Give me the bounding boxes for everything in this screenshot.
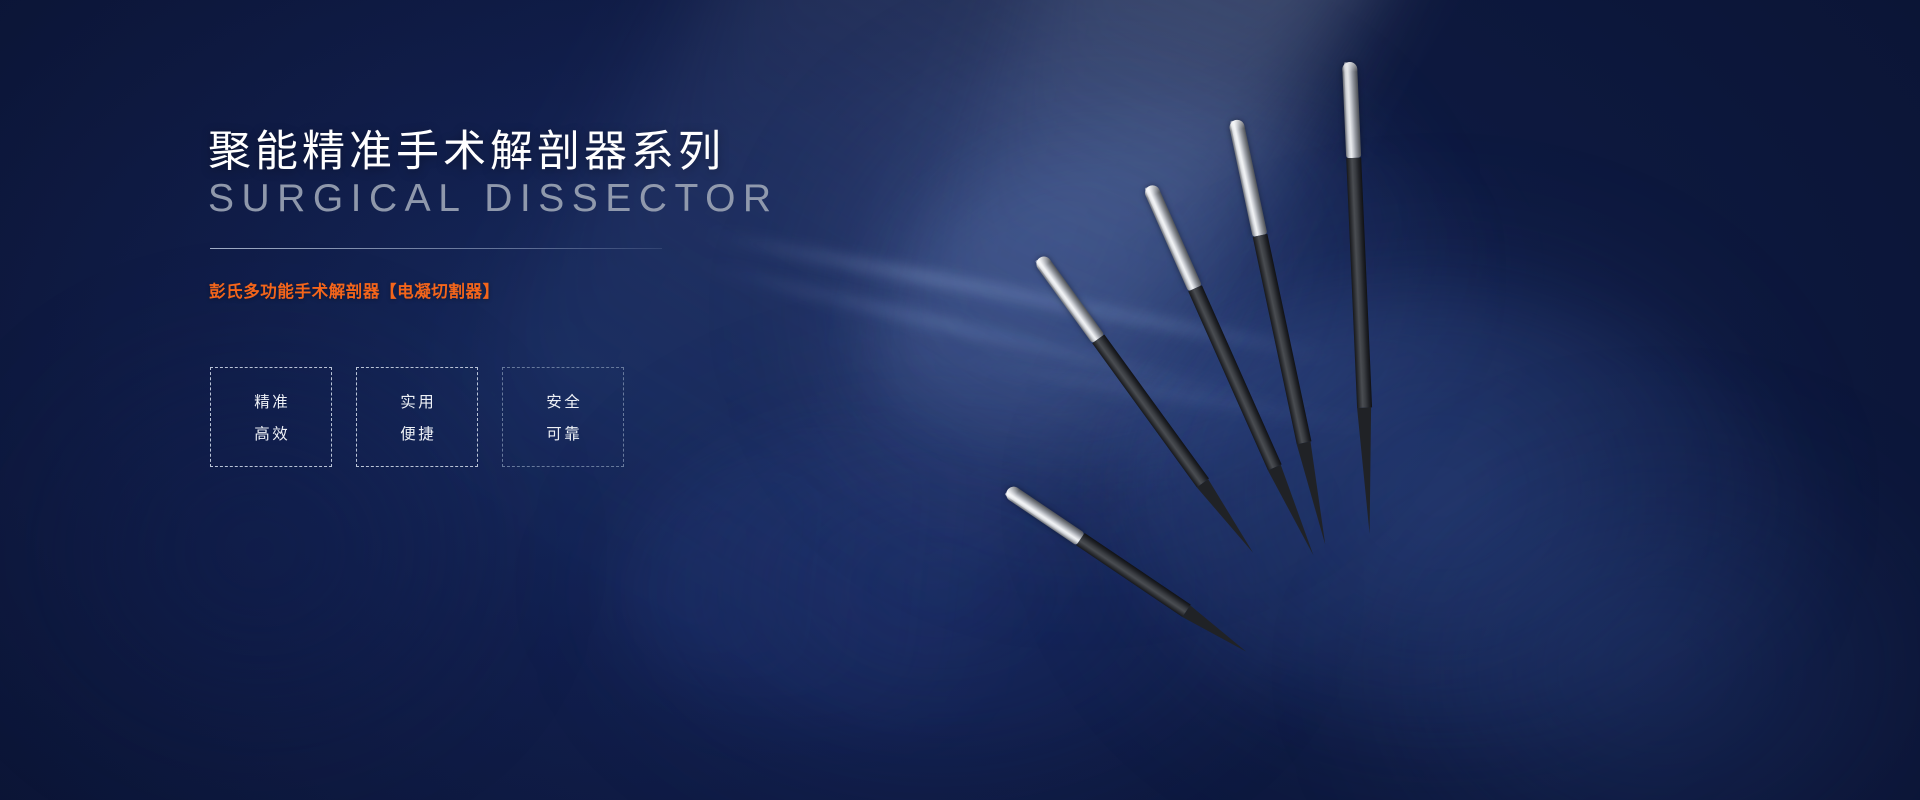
feature-box-list: 精准 高效 实用 便捷 安全 可靠 xyxy=(210,367,624,467)
feature-box-2-line-1: 实用 xyxy=(398,390,437,412)
title-divider xyxy=(210,248,662,249)
banner-text-content: 聚能精准手术解剖器系列 SURGICAL DISSECTOR 彭氏多功能手术解剖… xyxy=(208,0,968,800)
feature-box-2: 实用 便捷 xyxy=(356,367,478,467)
feature-box-1-line-1: 精准 xyxy=(252,390,291,412)
page-title: 聚能精准手术解剖器系列 xyxy=(208,128,725,176)
feature-box-3-line-1: 安全 xyxy=(544,390,583,412)
feature-box-3-line-2: 可靠 xyxy=(544,422,583,444)
feature-box-1-line-2: 高效 xyxy=(252,422,291,444)
feature-box-1: 精准 高效 xyxy=(210,367,332,467)
product-hero-banner: 聚能精准手术解剖器系列 SURGICAL DISSECTOR 彭氏多功能手术解剖… xyxy=(0,0,1920,800)
feature-box-3: 安全 可靠 xyxy=(502,367,624,467)
feature-box-2-line-2: 便捷 xyxy=(398,422,437,444)
product-name-accent: 彭氏多功能手术解剖器【电凝切割器】 xyxy=(209,278,500,302)
page-subtitle-english: SURGICAL DISSECTOR xyxy=(208,177,779,221)
